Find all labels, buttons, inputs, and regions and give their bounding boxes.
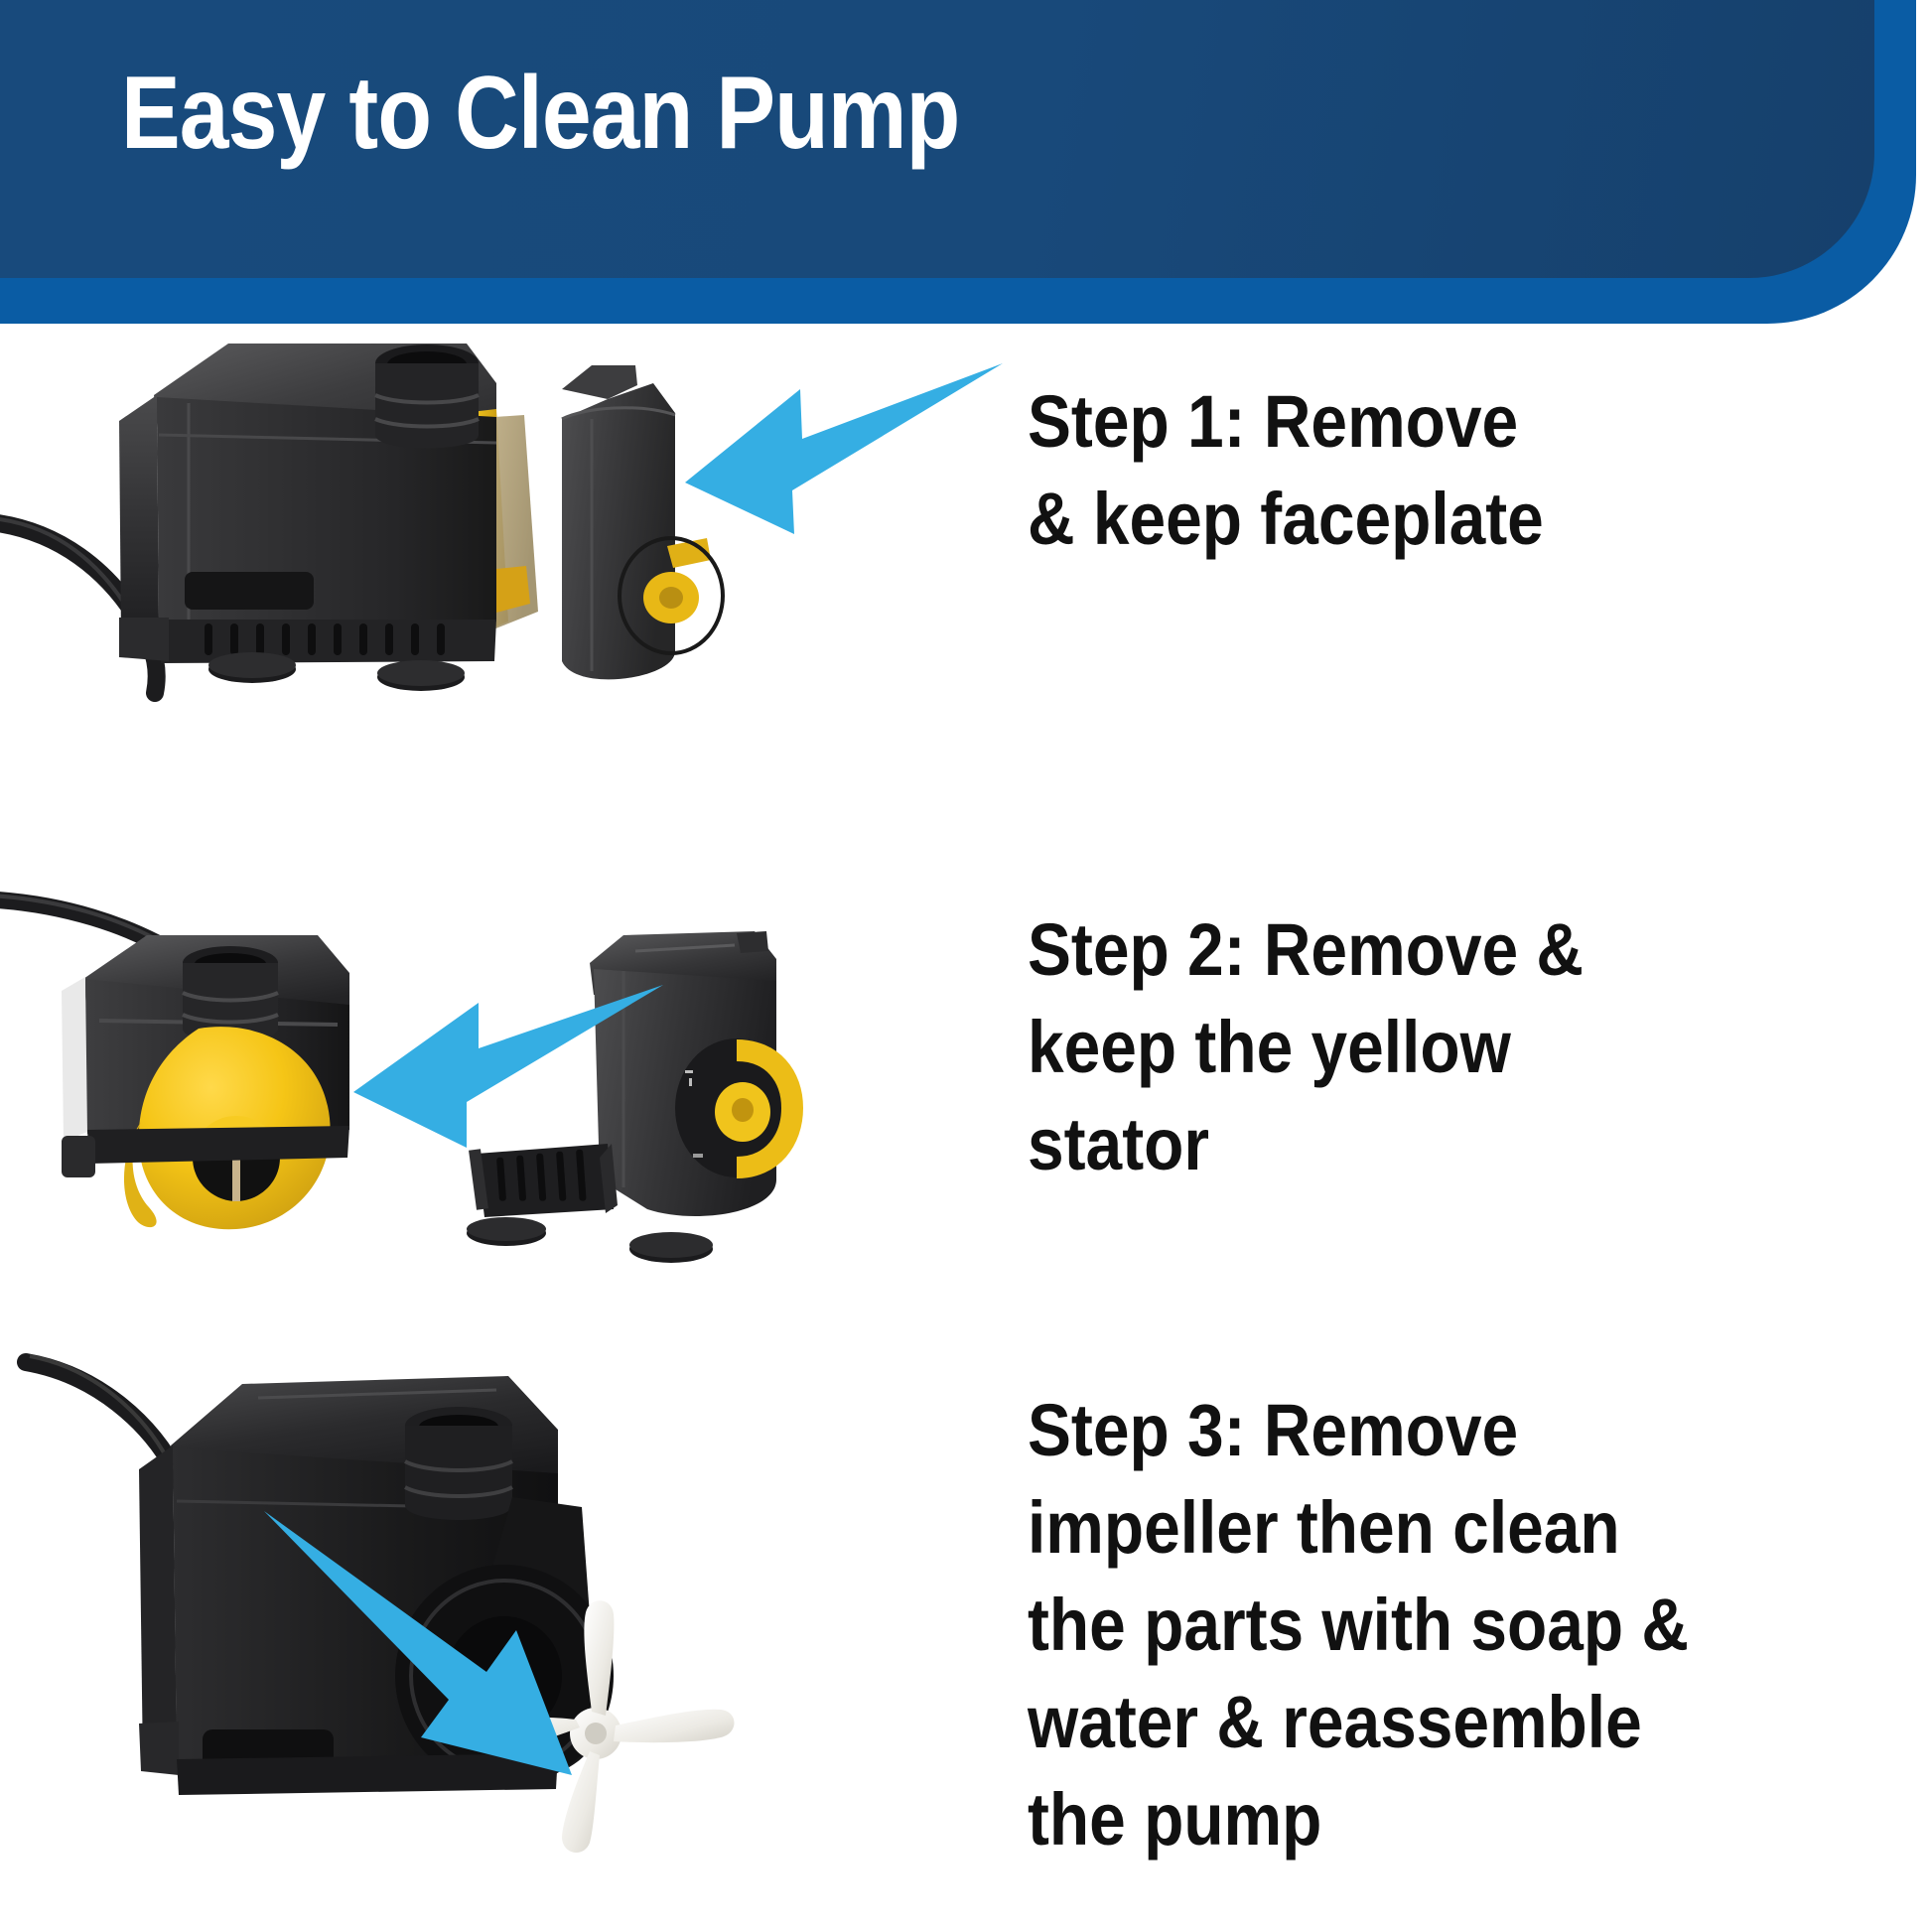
mounting-bracket <box>62 1136 95 1177</box>
dial-tick-2 <box>689 1078 692 1086</box>
pump-with-faceplate-detached-svg <box>0 324 1003 860</box>
step-row-1: Step 1: Remove & keep faceplate <box>0 324 1932 860</box>
mounting-bracket <box>119 618 169 661</box>
faceplate <box>562 383 675 679</box>
step-row-2: Step 2: Remove & keep the yellow stator <box>0 860 1932 1326</box>
outlet-nozzle-barrel <box>375 363 479 449</box>
step-2-illustration <box>0 860 1003 1326</box>
pump-housing-left-side <box>139 1446 177 1767</box>
pump-housing-left-side <box>119 395 159 639</box>
dial-tick-1 <box>685 1070 693 1073</box>
dial-tick-3 <box>693 1154 703 1158</box>
arrow-pointing-left-at-faceplate <box>685 363 1003 534</box>
step-3-text-pane: Step 3: Remove impeller then clean the p… <box>1028 1326 1921 1932</box>
step-2-label: Step 2: Remove & keep the yellow stator <box>1028 901 1823 1193</box>
vented-base <box>87 1126 349 1164</box>
header-banner: Easy to Clean Pump <box>0 0 1932 324</box>
step-3-illustration <box>0 1326 1003 1932</box>
pump-housing-left-light <box>62 977 87 1142</box>
right-housing-notch <box>737 931 768 953</box>
vented-base-right <box>477 1144 614 1217</box>
step-2-text-pane: Step 2: Remove & keep the yellow stator <box>1028 860 1921 1326</box>
impeller-blade-right <box>614 1710 735 1743</box>
step-1-label: Step 1: Remove & keep faceplate <box>1028 373 1823 568</box>
outlet-nozzle-barrel <box>405 1426 512 1520</box>
page-title: Easy to Clean Pump <box>121 62 959 165</box>
steps-container: Step 1: Remove & keep faceplate <box>0 324 1932 1932</box>
stator-shaft <box>232 1160 240 1201</box>
mounting-bracket <box>139 1722 179 1775</box>
base-bar <box>177 1753 558 1795</box>
pump-body-and-yellow-stator-svg <box>0 860 1003 1326</box>
impeller-center <box>585 1723 607 1744</box>
step-3-label: Step 3: Remove impeller then clean the p… <box>1028 1382 1823 1868</box>
step-1-text-pane: Step 1: Remove & keep faceplate <box>1028 324 1921 860</box>
pump-with-impeller-svg <box>0 1326 1003 1932</box>
bracket-slot <box>185 572 314 610</box>
step-row-3: Step 3: Remove impeller then clean the p… <box>0 1326 1932 1932</box>
base-end-cap <box>475 1150 483 1209</box>
step-1-illustration <box>0 324 1003 860</box>
